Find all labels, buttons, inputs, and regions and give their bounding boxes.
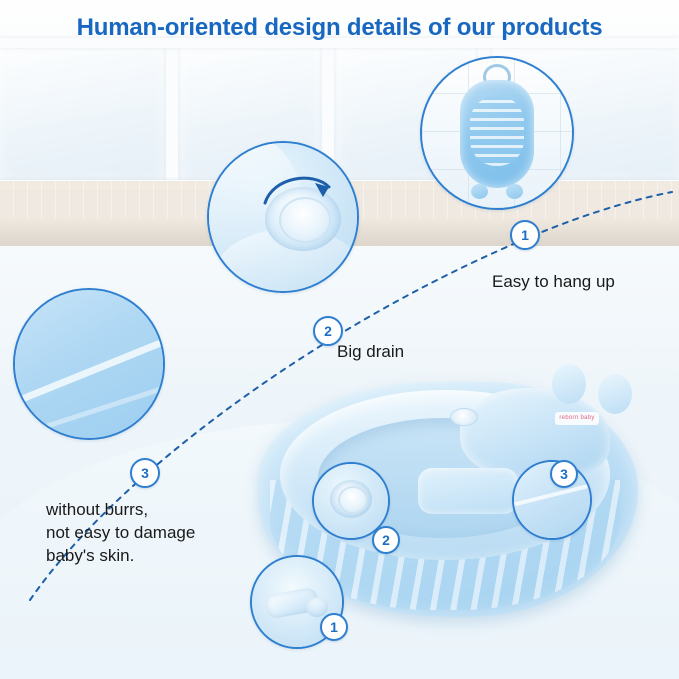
page-title: Human-oriented design details of our pro… xyxy=(0,14,679,42)
hanging-bathtub-icon xyxy=(460,80,534,188)
badge-marker-tub-valve: 1 xyxy=(320,613,348,641)
callout-big-drain xyxy=(207,141,359,293)
bathtub-seat xyxy=(418,468,518,514)
badge-hang-up: 1 xyxy=(510,220,540,250)
tub-drain-zoom-photo xyxy=(314,464,388,538)
callout-hang-up xyxy=(420,56,574,210)
hang-up-photo xyxy=(422,58,572,208)
smooth-surface-photo xyxy=(15,290,163,438)
badge-smooth-surface: 3 xyxy=(130,458,160,488)
product-logo: reborn baby xyxy=(555,412,599,425)
tub-knob-left-icon xyxy=(471,184,488,199)
badge-marker-tub-side: 3 xyxy=(550,460,578,488)
tub-knob-right-icon xyxy=(506,184,523,199)
rotate-arrow-icon xyxy=(257,165,337,215)
badge-marker-tub-drain: 2 xyxy=(372,526,400,554)
air-valve-cap-icon xyxy=(306,597,328,617)
tub-drain-plug-icon xyxy=(338,486,368,514)
label-smooth-surface: without burrs, not easy to damage baby's… xyxy=(46,498,195,567)
smooth-surface-background xyxy=(15,290,163,438)
label-hang-up: Easy to hang up xyxy=(492,270,615,293)
bathtub-headrest-right xyxy=(598,374,632,414)
callout-smooth-surface xyxy=(13,288,165,440)
window-mullion-vertical-1 xyxy=(166,38,178,188)
bathtub-drain xyxy=(450,408,478,426)
window-pane-left xyxy=(0,44,168,186)
bathtub-headrest-left xyxy=(552,364,586,404)
big-drain-photo xyxy=(209,143,357,291)
product-feature-image: Human-oriented design details of our pro… xyxy=(0,0,679,679)
